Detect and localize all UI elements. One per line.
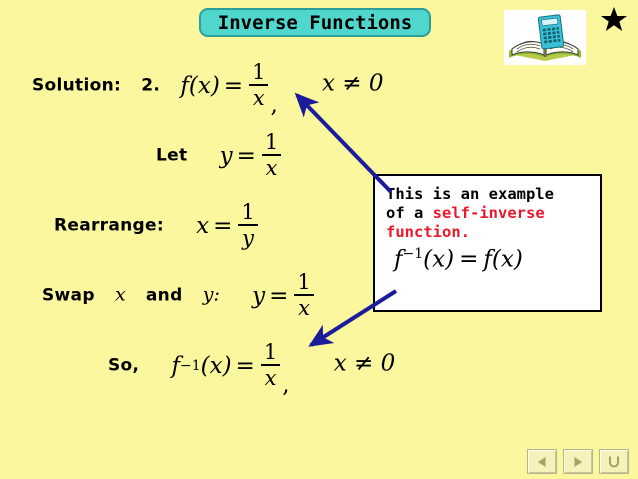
step-so-condition: x ≠ 0 bbox=[334, 351, 396, 377]
open-book-with-calculator-icon bbox=[504, 10, 586, 65]
equals-sign: = bbox=[236, 353, 255, 379]
slide-title-badge: Inverse Functions bbox=[199, 8, 431, 37]
equals-sign: = bbox=[213, 213, 232, 239]
equals-sign: = bbox=[237, 143, 256, 169]
page-title: Inverse Functions bbox=[218, 12, 412, 34]
step-swap-label-part2: and bbox=[146, 286, 183, 306]
next-slide-button[interactable] bbox=[563, 449, 593, 474]
callout-right-side: f(x) bbox=[483, 246, 522, 272]
callout-box: This is an example of a self-inverse fun… bbox=[373, 174, 602, 312]
step-solution-label: Solution: bbox=[32, 76, 121, 96]
fraction-denominator: x bbox=[294, 297, 313, 319]
callout-line-3: function. bbox=[386, 223, 590, 242]
callout-line-2-plain: of a bbox=[386, 204, 433, 222]
step-rearrange-equation: x = 1 y bbox=[196, 202, 260, 250]
fraction-numerator: 1 bbox=[294, 271, 313, 293]
star-icon bbox=[600, 6, 628, 34]
step-so-argument: (x) bbox=[201, 353, 232, 379]
step-so-function-f: f bbox=[171, 353, 180, 379]
callout-function-f: f bbox=[394, 246, 403, 272]
step-rearrange-lhs: x bbox=[196, 213, 209, 239]
fraction-numerator: 1 bbox=[249, 61, 268, 83]
step-swap-variable-x: x bbox=[115, 284, 126, 306]
step-solution-condition: x ≠ 0 bbox=[322, 71, 384, 97]
step-so: So, f −1 (x) = 1 x , x ≠ 0 bbox=[108, 342, 395, 390]
restart-button[interactable] bbox=[599, 449, 629, 474]
equals-sign: = bbox=[269, 283, 288, 309]
fraction-one-over-x: 1 x bbox=[262, 131, 281, 179]
slide-navigation-bar bbox=[527, 449, 631, 475]
fraction-one-over-x: 1 x bbox=[249, 61, 268, 109]
step-swap-variable-y: y: bbox=[203, 284, 220, 306]
step-swap-equation: y = 1 x bbox=[252, 272, 316, 320]
fraction-one-over-y: 1 y bbox=[238, 201, 257, 249]
callout-line-2: of a self-inverse bbox=[386, 204, 590, 223]
equals-sign: = bbox=[459, 246, 478, 272]
step-solution-number: 2. bbox=[141, 76, 160, 96]
step-so-inverse-exponent: −1 bbox=[180, 358, 201, 374]
callout-highlight-self-inverse: self-inverse bbox=[433, 204, 545, 222]
step-so-equation: f −1 (x) = 1 x , bbox=[171, 342, 289, 390]
slide-canvas: Inverse Functions bbox=[0, 0, 638, 479]
step-so-label: So, bbox=[108, 356, 139, 376]
step-swap-label-part1: Swap bbox=[42, 286, 95, 306]
fraction-denominator: x bbox=[249, 87, 268, 109]
step-let: Let y = 1 x bbox=[156, 132, 283, 180]
callout-argument: (x) bbox=[423, 246, 454, 272]
previous-slide-button[interactable] bbox=[527, 449, 557, 474]
step-let-equation: y = 1 x bbox=[220, 132, 284, 180]
step-solution: Solution: 2. f(x) = 1 x , x ≠ 0 bbox=[32, 62, 383, 110]
triangle-right-icon bbox=[571, 455, 585, 469]
equals-sign: = bbox=[224, 73, 243, 99]
comma: , bbox=[282, 372, 289, 398]
triangle-left-icon bbox=[535, 455, 549, 469]
fraction-numerator: 1 bbox=[238, 201, 257, 223]
fraction-numerator: 1 bbox=[262, 131, 281, 153]
step-rearrange: Rearrange: x = 1 y bbox=[54, 202, 260, 250]
fraction-one-over-x: 1 x bbox=[294, 271, 313, 319]
step-rearrange-label: Rearrange: bbox=[54, 216, 164, 236]
step-let-label: Let bbox=[156, 146, 187, 166]
step-solution-equation: f(x) = 1 x , bbox=[180, 62, 277, 110]
fraction-denominator: x bbox=[262, 157, 281, 179]
callout-equation: f−1(x)=f(x) bbox=[386, 246, 590, 273]
fraction-denominator: x bbox=[261, 367, 280, 389]
fraction-numerator: 1 bbox=[261, 341, 280, 363]
fraction-one-over-x: 1 x bbox=[261, 341, 280, 389]
step-let-lhs: y bbox=[220, 143, 233, 169]
restart-u-icon bbox=[606, 454, 622, 470]
step-swap: Swap x and y: y = 1 x bbox=[42, 272, 316, 320]
fraction-denominator: y bbox=[238, 227, 257, 249]
step-solution-lhs: f(x) bbox=[180, 73, 219, 99]
callout-line-1: This is an example bbox=[386, 185, 590, 204]
step-swap-lhs: y bbox=[252, 283, 265, 309]
comma: , bbox=[270, 92, 277, 118]
callout-inverse-exponent: −1 bbox=[403, 246, 424, 262]
